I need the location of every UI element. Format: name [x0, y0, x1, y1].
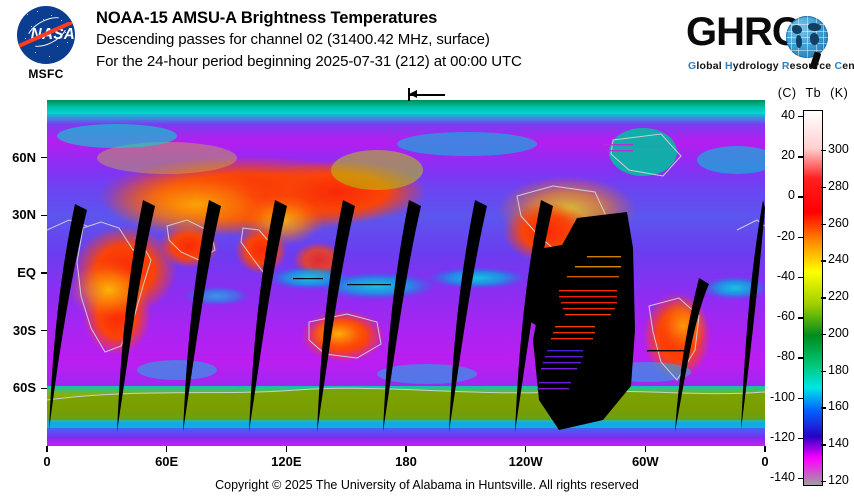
y-axis-label: 60N: [0, 150, 36, 165]
colorbar-label-celsius: -100: [755, 390, 795, 404]
colorbar-label-celsius: 0: [755, 188, 795, 202]
colorbar-label-celsius: -80: [755, 349, 795, 363]
x-axis-label: 0: [17, 454, 77, 469]
colorbar-label-celsius: -60: [755, 309, 795, 323]
colorbar-tick-kelvin: [821, 187, 826, 188]
x-axis-label: 120W: [496, 454, 556, 469]
colorbar-scale: [803, 110, 823, 486]
colorbar-label-celsius: -20: [755, 229, 795, 243]
ghrc-wordmark: GHRC: [686, 10, 800, 55]
title-block: NOAA-15 AMSU-A Brightness Temperatures D…: [96, 8, 676, 73]
y-axis-tick: [41, 215, 47, 217]
ghrc-tagline-part: esource: [790, 60, 835, 72]
colorbar-label-celsius: -120: [755, 430, 795, 444]
colorbar-label-kelvin: 140: [828, 436, 854, 450]
colorbar-label-celsius: 40: [755, 108, 795, 122]
colorbar-tick-celsius: [798, 317, 803, 318]
colorbar-variable: Tb: [806, 86, 822, 100]
colorbar-unit-celsius: (C): [778, 86, 797, 100]
copyright-notice: Copyright © 2025 The University of Alaba…: [0, 478, 854, 492]
colorbar-label-kelvin: 260: [828, 216, 854, 230]
nasa-logo: NASA MSFC: [10, 6, 82, 84]
ghrc-tagline-part: ydrology: [733, 60, 782, 72]
y-axis-label: 30S: [0, 323, 36, 338]
x-axis-tick: [525, 446, 527, 452]
ghrc-tagline-part: lobal: [696, 60, 725, 72]
colorbar-tick-kelvin: [821, 260, 826, 261]
colorbar-tick-kelvin: [821, 150, 826, 151]
colorbar-tick-celsius: [798, 156, 803, 157]
colorbar-tick-celsius: [798, 237, 803, 238]
brightness-temperature-raster: [47, 100, 765, 446]
x-axis-tick: [286, 446, 288, 452]
left-arrow-marker-icon: [408, 88, 448, 102]
colorbar-label-kelvin: 180: [828, 363, 854, 377]
colorbar-label-kelvin: 280: [828, 179, 854, 193]
x-axis-label: 60W: [615, 454, 675, 469]
colorbar-tick-celsius: [798, 277, 803, 278]
y-axis-tick: [41, 330, 47, 332]
colorbar-tick-celsius: [798, 438, 803, 439]
colorbar-tick-celsius: [798, 398, 803, 399]
nasa-red-swoosh-icon: [17, 22, 75, 48]
map-image: [47, 100, 765, 446]
colorbar-label-kelvin: 160: [828, 399, 854, 413]
x-axis-tick: [46, 446, 48, 452]
y-axis-tick: [41, 157, 47, 159]
x-axis-label: 0: [735, 454, 795, 469]
ghrc-tagline-part: enter: [842, 60, 854, 72]
y-axis-label: 30N: [0, 207, 36, 222]
colorbar-tick-celsius: [798, 196, 803, 197]
colorbar-tick-kelvin: [821, 444, 826, 445]
colorbar-label-kelvin: 200: [828, 326, 854, 340]
x-axis-tick: [166, 446, 168, 452]
page-subtitle: Descending passes for channel 02 (31400.…: [96, 29, 676, 51]
ghrc-tagline-part: H: [725, 60, 733, 72]
x-axis-label: 180: [376, 454, 436, 469]
globe-icon: [786, 16, 828, 58]
page-title: NOAA-15 AMSU-A Brightness Temperatures: [96, 8, 676, 29]
colorbar-header: (C) Tb (K): [772, 86, 854, 100]
colorbar-tick-kelvin: [821, 407, 826, 408]
x-axis-tick: [764, 446, 766, 452]
colorbar-label-kelvin: 240: [828, 252, 854, 266]
colorbar-tick-kelvin: [821, 334, 826, 335]
y-axis-tick: [41, 272, 47, 274]
colorbar-tick-kelvin: [821, 224, 826, 225]
x-axis-tick: [645, 446, 647, 452]
y-axis-label: 60S: [0, 380, 36, 395]
colorbar-gradient: [804, 111, 822, 485]
ghrc-tagline-part: R: [782, 60, 790, 72]
colorbar-tick-celsius: [798, 357, 803, 358]
y-axis-label: EQ: [0, 265, 36, 280]
colorbar-label-celsius: 20: [755, 148, 795, 162]
colorbar-unit-kelvin: (K): [830, 86, 848, 100]
x-axis-label: 120E: [256, 454, 316, 469]
colorbar-tick-kelvin: [821, 297, 826, 298]
nasa-center-label: MSFC: [10, 67, 82, 81]
x-axis-tick: [405, 446, 407, 452]
colorbar-label-kelvin: 300: [828, 142, 854, 156]
x-axis-label: 60E: [137, 454, 197, 469]
colorbar-tick-kelvin: [821, 371, 826, 372]
y-axis-tick: [41, 388, 47, 390]
ghrc-tagline: Global Hydrology Resource Center: [688, 60, 854, 72]
nasa-meatball-icon: NASA: [17, 6, 75, 64]
colorbar-label-kelvin: 220: [828, 289, 854, 303]
colorbar-label-celsius: -40: [755, 269, 795, 283]
colorbar-tick-celsius: [798, 116, 803, 117]
ghrc-logo: GHRC Global Hydrology Resource Center: [686, 8, 846, 80]
page-period: For the 24-hour period beginning 2025-07…: [96, 51, 676, 73]
